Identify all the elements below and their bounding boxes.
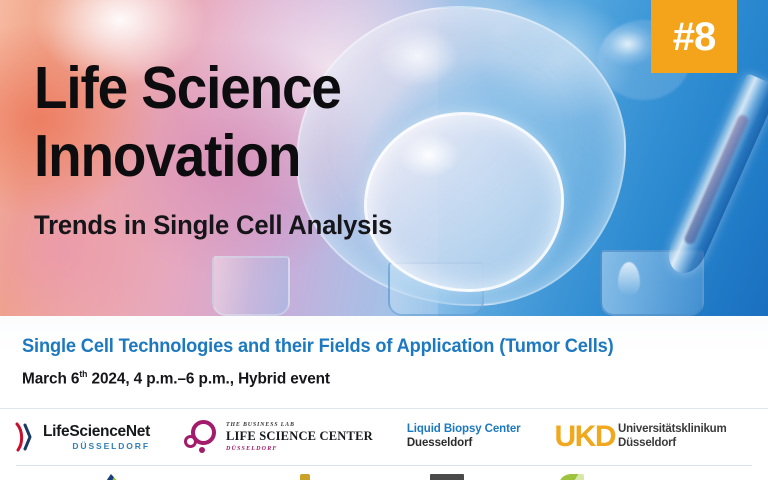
- lsc-city: DÜSSELDORF: [226, 446, 373, 452]
- life-science-center-wordmark: THE BUSINESS LAB LIFE SCIENCE CENTER DÜS…: [226, 422, 373, 452]
- ukd-monogram: UKD: [555, 422, 616, 452]
- page-title-line-1: Life Science: [34, 54, 385, 122]
- event-date-ordinal-suffix: th: [79, 369, 87, 379]
- ukd-city: Düsseldorf: [618, 437, 727, 451]
- cutoff-logo-3: [430, 474, 464, 480]
- liquid-droplet: [618, 262, 640, 296]
- page-title-line-2: Innovation: [34, 122, 385, 190]
- event-date-prefix: March 6: [22, 370, 79, 387]
- logo-lifesciencenet[interactable]: LifeScienceNet DÜSSELDORF: [14, 422, 150, 452]
- event-topic-headline: Single Cell Technologies and their Field…: [22, 336, 614, 358]
- sponsor-logo-bar: LifeScienceNet DÜSSELDORF THE BUSINESS L…: [0, 408, 768, 480]
- page-subtitle: Trends in Single Cell Analysis: [34, 208, 392, 242]
- event-date-rest: 2024, 4 p.m.–6 p.m., Hybrid event: [87, 370, 330, 387]
- edition-number-badge: #8: [651, 0, 737, 73]
- logo-liquid-biopsy-center[interactable]: Liquid Biopsy Center Duesseldorf: [407, 423, 521, 451]
- lifesciencenet-mark-icon: [14, 422, 36, 452]
- event-poster: #8 Life Science Innovation Trends in Sin…: [0, 0, 768, 480]
- lifesciencenet-name: LifeScienceNet: [43, 424, 150, 440]
- lifesciencenet-wordmark: LifeScienceNet DÜSSELDORF: [43, 424, 150, 451]
- logo-row-primary: LifeScienceNet DÜSSELDORF THE BUSINESS L…: [0, 409, 768, 465]
- logo-row-secondary-cutoff: [0, 467, 768, 480]
- liquid-biopsy-name: Liquid Biopsy Center: [407, 423, 521, 437]
- liquid-biopsy-wordmark: Liquid Biopsy Center Duesseldorf: [407, 423, 521, 451]
- lifesciencenet-city: DÜSSELDORF: [43, 442, 150, 451]
- ukd-wordmark: Universitätsklinikum Düsseldorf: [618, 423, 727, 450]
- lsc-name: LIFE SCIENCE CENTER: [226, 430, 373, 443]
- ukd-name: Universitätsklinikum: [618, 423, 727, 437]
- lsc-tagline: THE BUSINESS LAB: [226, 422, 373, 428]
- cutoff-logo-4: [560, 474, 584, 480]
- cutoff-logo-2: [300, 474, 310, 480]
- life-science-center-mark-icon: [184, 420, 218, 454]
- title-block: Life Science Innovation Trends in Single…: [34, 54, 411, 242]
- logo-ukd[interactable]: UKD Universitätsklinikum Düsseldorf: [555, 422, 727, 452]
- logo-life-science-center[interactable]: THE BUSINESS LAB LIFE SCIENCE CENTER DÜS…: [184, 420, 373, 454]
- liquid-biopsy-city: Duesseldorf: [407, 437, 521, 451]
- lsc-ring-inner: [184, 435, 197, 448]
- test-tube-left: [212, 256, 290, 316]
- event-date-line: March 6th 2024, 4 p.m.–6 p.m., Hybrid ev…: [22, 369, 330, 388]
- edition-number-label: #8: [673, 17, 716, 57]
- logo-bar-divider: [16, 465, 752, 466]
- lsc-dot: [199, 447, 205, 453]
- cutoff-logo-1: [100, 474, 126, 480]
- event-info-band: Single Cell Technologies and their Field…: [0, 316, 768, 408]
